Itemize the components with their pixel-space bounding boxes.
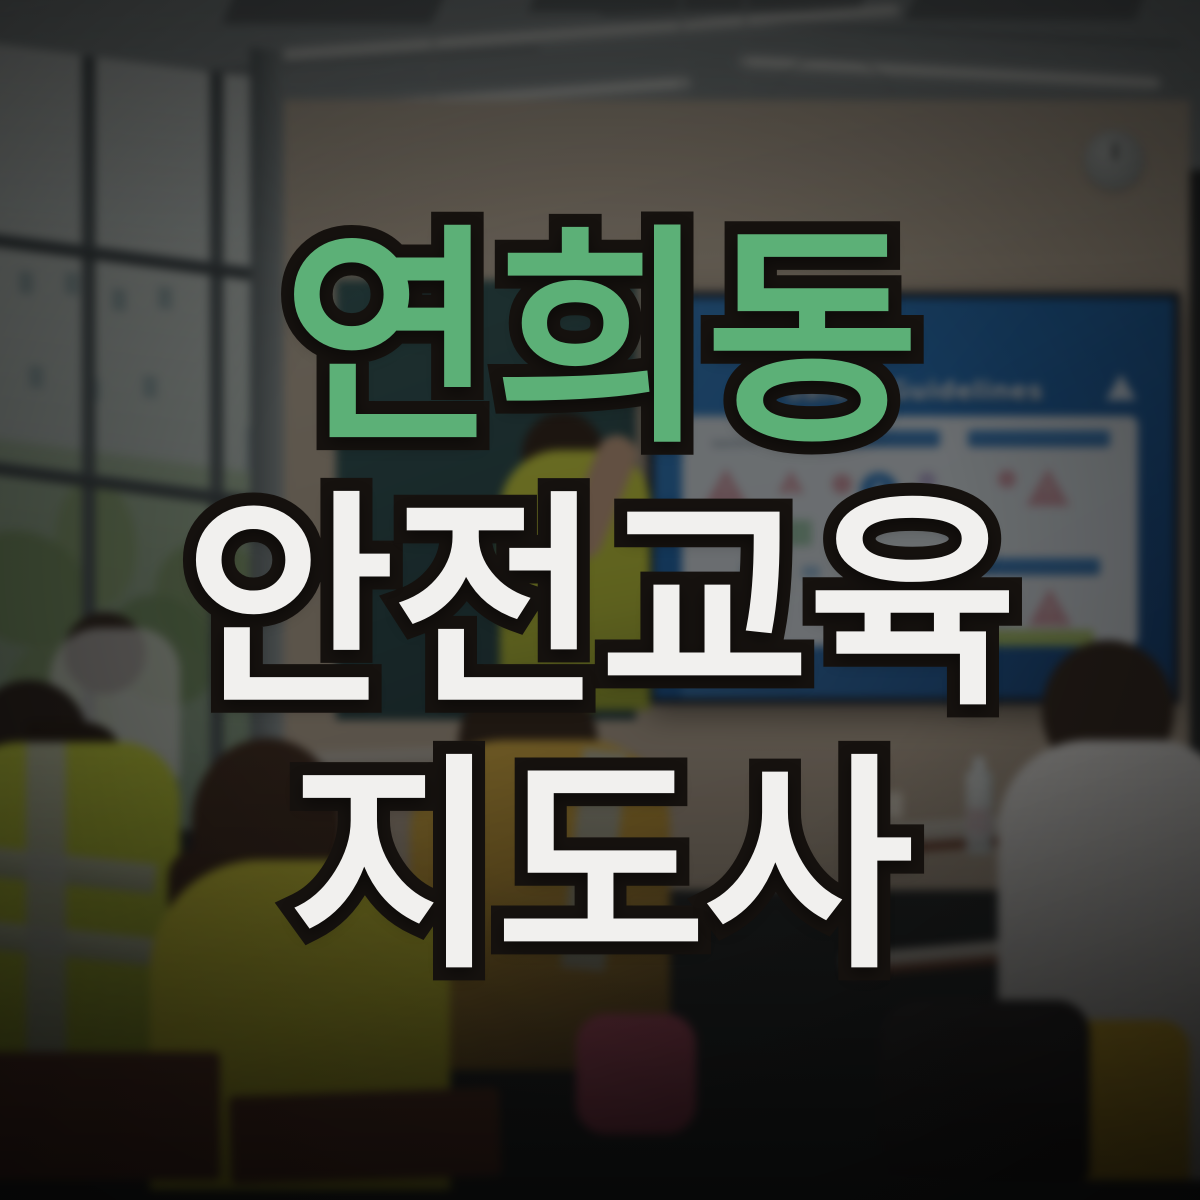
headline-block: 연희동 안전교육 지도사 (0, 0, 1200, 1200)
headline-line-3: 지도사 (288, 758, 911, 977)
headline-line-1: 연희동 (283, 229, 917, 452)
poster-canvas: Safety Guidelines SAFETY (0, 0, 1200, 1200)
headline-line-2: 안전교육 (184, 495, 1015, 714)
